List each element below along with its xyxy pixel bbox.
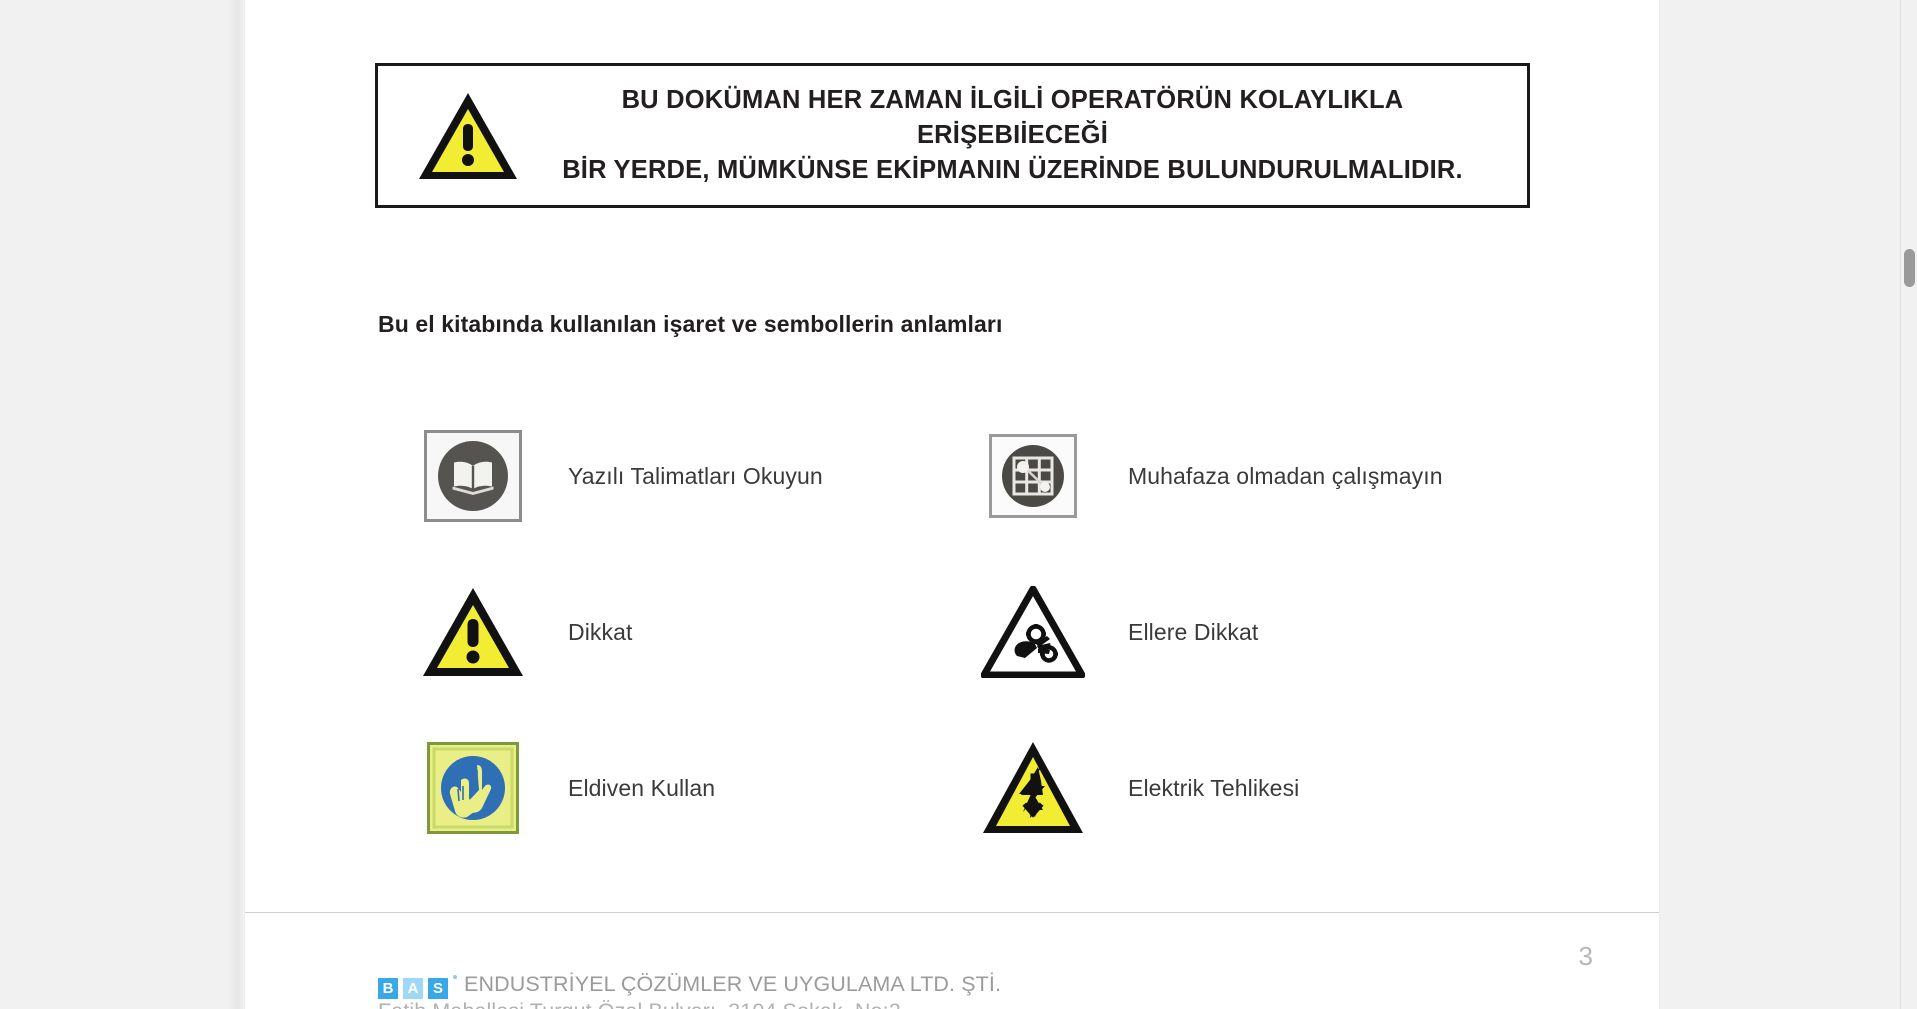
symbol-art: [378, 586, 568, 678]
symbol-row: Ellere Dikkat: [938, 554, 1498, 710]
footer-divider: [245, 912, 1659, 913]
symbol-row: Muhafaza olmadan çalışmayın: [938, 398, 1498, 554]
document-page: BU DOKÜMAN HER ZAMAN İLGİLİ OPERATÖRÜN K…: [245, 0, 1659, 1009]
section-heading: Bu el kitabında kullanılan işaret ve sem…: [378, 311, 1002, 338]
no-guard-operation-icon: [989, 434, 1077, 518]
symbol-row: Eldiven Kullan: [378, 710, 938, 866]
symbol-art: [938, 740, 1128, 836]
symbol-legend-grid: Yazılı Talimatları Okuyun: [378, 398, 1558, 866]
symbol-label: Muhafaza olmadan çalışmayın: [1128, 463, 1443, 490]
logo-letter-s: S: [428, 978, 448, 999]
hand-entanglement-icon: [981, 586, 1085, 678]
symbol-art: [378, 742, 568, 834]
symbol-art: [378, 430, 568, 522]
symbol-label: Yazılı Talimatları Okuyun: [568, 463, 823, 490]
logo-letter-a: A: [403, 978, 423, 999]
symbol-label: Eldiven Kullan: [568, 775, 715, 802]
page-left-shadow: [228, 0, 245, 1009]
symbol-label: Dikkat: [568, 619, 633, 646]
page-number: 3: [245, 941, 1593, 972]
symbol-label: Ellere Dikkat: [1128, 619, 1258, 646]
warning-banner: BU DOKÜMAN HER ZAMAN İLGİLİ OPERATÖRÜN K…: [375, 63, 1530, 208]
symbol-art: [938, 586, 1128, 678]
read-instructions-icon: [424, 430, 522, 522]
warning-triangle-icon: [416, 90, 520, 182]
vertical-scrollbar-thumb[interactable]: [1904, 249, 1915, 287]
logo-letter-b: B: [378, 978, 398, 999]
caution-exclamation-icon: [421, 586, 525, 678]
symbol-row: Yazılı Talimatları Okuyun: [378, 398, 938, 554]
logo-dot-icon: [453, 975, 457, 979]
symbol-row: Dikkat: [378, 554, 938, 710]
footer-company-name: ENDUSTRİYEL ÇÖZÜMLER VE UYGULAMA LTD. ŞT…: [464, 972, 1001, 997]
symbol-row: Elektrik Tehlikesi: [938, 710, 1498, 866]
footer-address: Fatih Mahallesi Turgut Özal Bulvarı, 310…: [378, 999, 1478, 1009]
footer-company-line: B A S ENDUSTRİYEL ÇÖZÜMLER VE UYGULAMA L…: [378, 972, 1478, 997]
vertical-scrollbar-track[interactable]: [1900, 0, 1917, 1009]
symbol-art: [938, 434, 1128, 518]
warning-banner-text: BU DOKÜMAN HER ZAMAN İLGİLİ OPERATÖRÜN K…: [520, 83, 1527, 189]
page-footer: B A S ENDUSTRİYEL ÇÖZÜMLER VE UYGULAMA L…: [378, 972, 1478, 1009]
symbol-label: Elektrik Tehlikesi: [1128, 775, 1299, 802]
pdf-viewer: BU DOKÜMAN HER ZAMAN İLGİLİ OPERATÖRÜN K…: [0, 0, 1917, 1009]
electrical-hazard-icon: [981, 740, 1085, 836]
wear-gloves-icon: [427, 742, 519, 834]
